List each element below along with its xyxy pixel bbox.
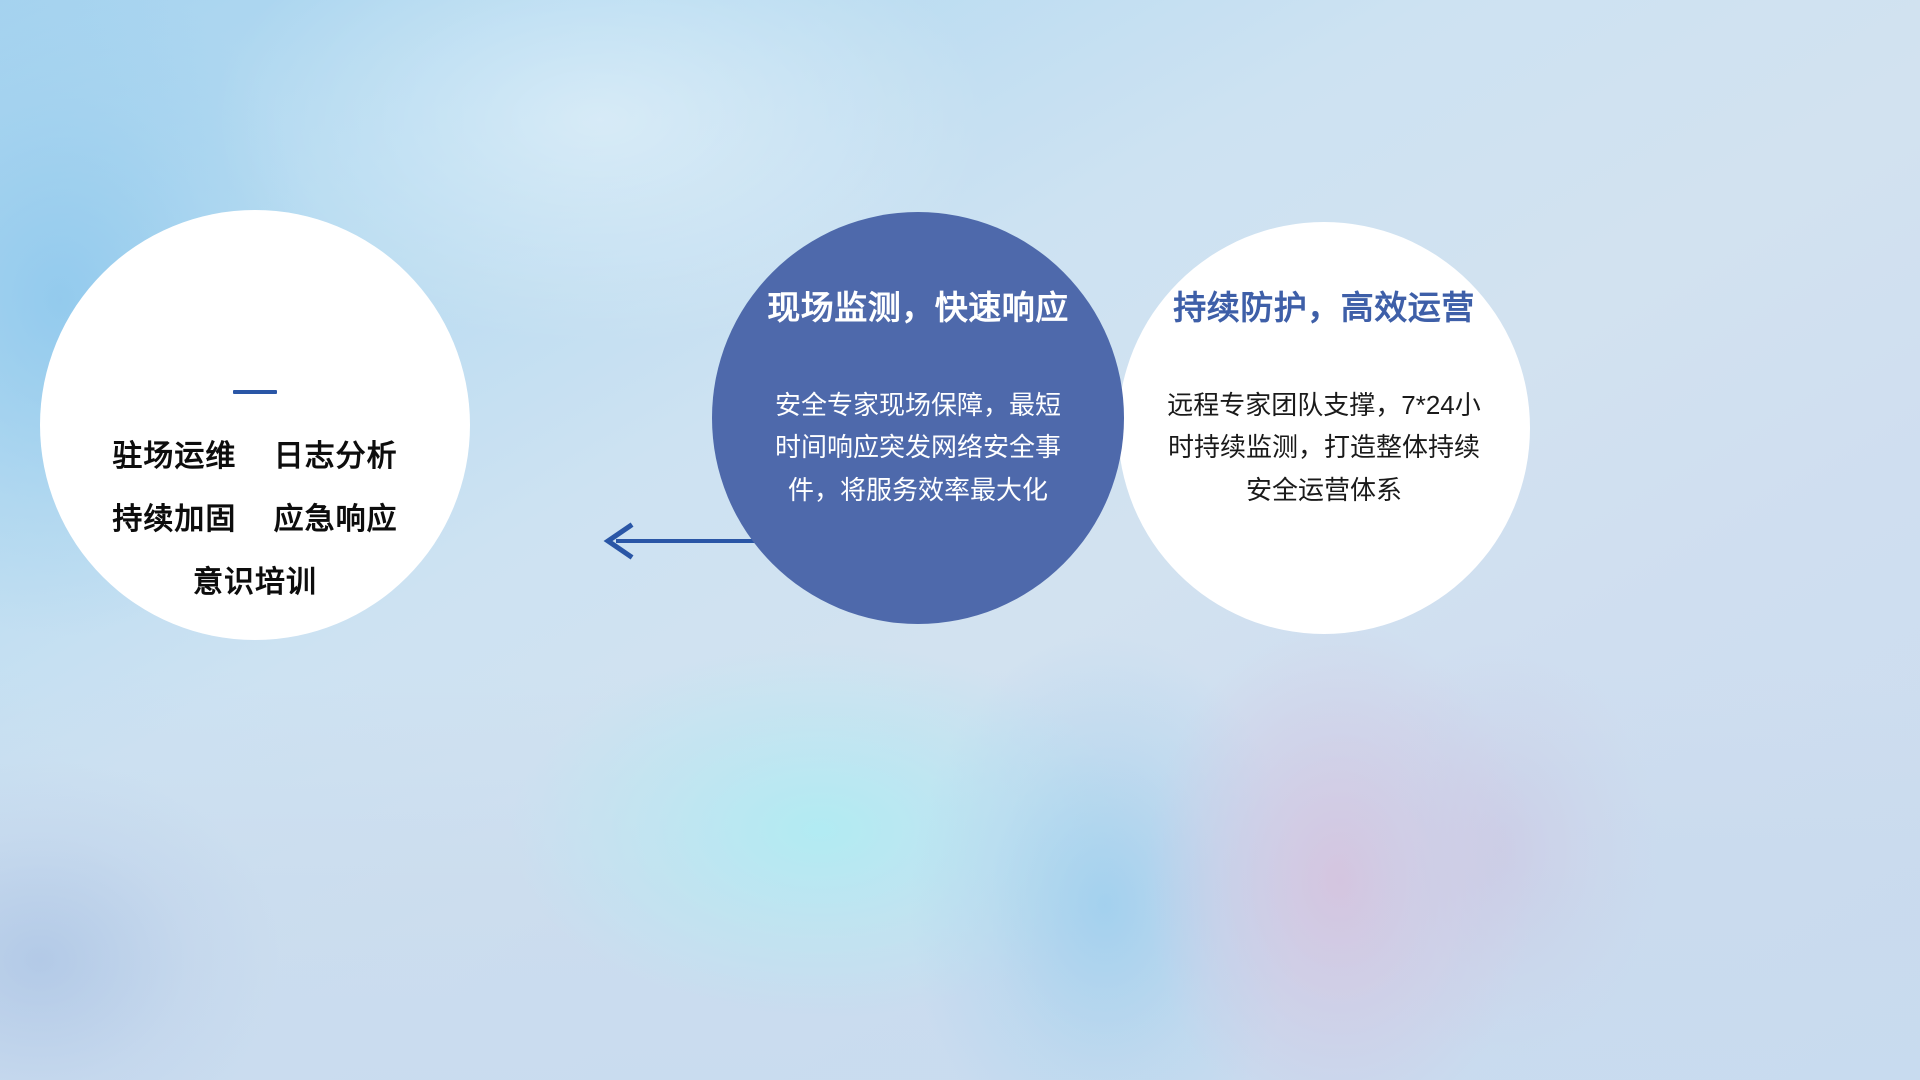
- onsite-monitoring-circle: 现场监测，快速响应 安全专家现场保障，最短时间响应突发网络安全事件，将服务效率最…: [712, 212, 1124, 624]
- continuous-protection-body: 远程专家团队支撑，7*24小时持续监测，打造整体持续安全运营体系: [1159, 384, 1489, 510]
- onsite-monitoring-title: 现场监测，快速响应: [767, 290, 1069, 326]
- left-keyword-line-2: 持续加固 应急响应: [112, 505, 397, 535]
- onsite-monitoring-body: 安全专家现场保障，最短时间响应突发网络安全事件，将服务效率最大化: [768, 384, 1068, 510]
- continuous-protection-circle: 持续防护，高效运营 远程专家团队支撑，7*24小时持续监测，打造整体持续安全运营…: [1118, 222, 1530, 634]
- divider-rule: [233, 390, 277, 394]
- left-keyword-line-1: 驻场运维 日志分析: [112, 442, 397, 472]
- continuous-protection-title: 持续防护，高效运营: [1173, 290, 1475, 326]
- slide-canvas: 驻场运维 日志分析 持续加固 应急响应 意识培训 现场监测，快速响应 安全专家现…: [0, 0, 1920, 1080]
- left-keyword-line-3: 意识培训: [193, 568, 317, 598]
- left-keyword-circle: 驻场运维 日志分析 持续加固 应急响应 意识培训: [40, 210, 470, 640]
